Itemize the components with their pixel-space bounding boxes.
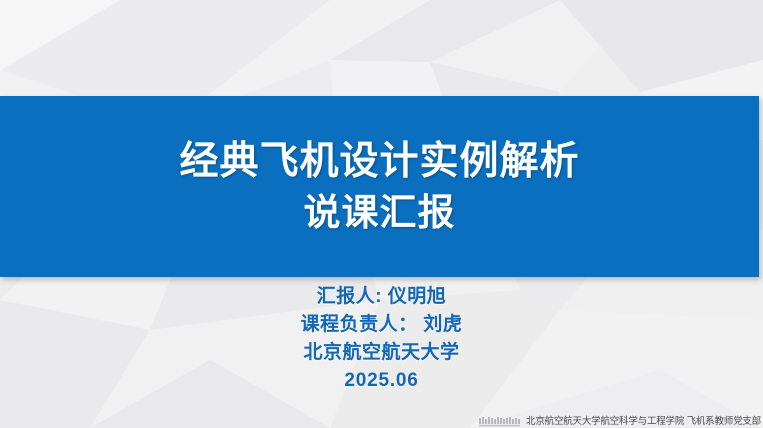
footer: 北京航空航天大学航空科学与工程学院 飞机系教师党支部 [479, 416, 761, 427]
institution-line: 北京航空航天大学 [0, 339, 763, 367]
course-lead-line: 课程负责人： 刘虎 [0, 311, 763, 339]
presenter-line: 汇报人: 仪明旭 [0, 283, 763, 311]
org-seal-mark-icon [479, 416, 523, 427]
slide-title-line-1: 经典飞机设计实例解析 [179, 136, 579, 188]
slide-title-line-2: 说课汇报 [304, 188, 456, 237]
presentation-slide: 经典飞机设计实例解析 说课汇报 汇报人: 仪明旭 课程负责人： 刘虎 北京航空航… [0, 0, 763, 428]
title-banner: 经典飞机设计实例解析 说课汇报 [0, 96, 759, 277]
date-line: 2025.06 [0, 367, 763, 395]
subtitle-block: 汇报人: 仪明旭 课程负责人： 刘虎 北京航空航天大学 2025.06 [0, 283, 763, 395]
footer-text: 北京航空航天大学航空科学与工程学院 飞机系教师党支部 [526, 416, 761, 427]
